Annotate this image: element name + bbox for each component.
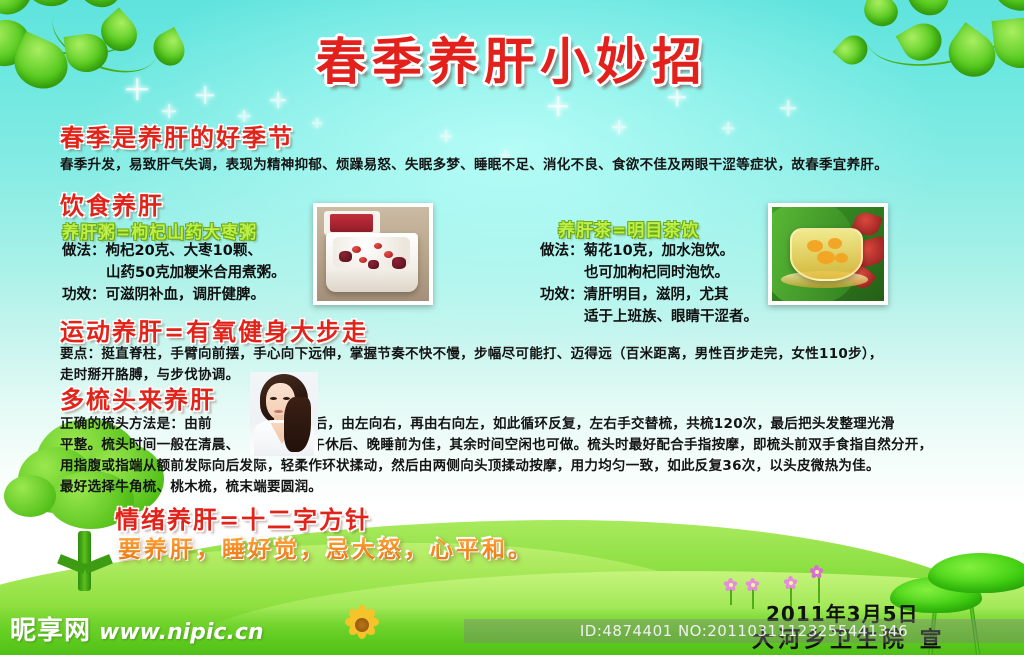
tea-method-label: 做法： [540,243,584,259]
combing-line-4: 最好选择牛角梳、桃木梳，梳末端要圆润。 [60,477,1015,498]
porridge-method-line1: 做法：枸杞20克、大枣10颗、 [62,240,286,262]
site-url-text: www.nipic.cn [99,620,264,645]
poster-canvas: 春季养肝小妙招 春季是养肝的好季节 春季升发，易致肝气失调，表现为精神抑郁、烦躁… [0,0,1024,655]
combing-line-2a: 平整。梳头时间一般在清晨、 [60,437,239,453]
sunflower-illustration [340,603,384,647]
heading-combing: 多梳头来养肝 [60,380,216,415]
tea-method-text2: 也可加枸杞同时泡饮。 [540,262,729,284]
porridge-recipe: 做法：枸杞20克、大枣10颗、 山药50克加粳米合用煮粥。 功效：可滋阴补血，调… [62,240,286,306]
porridge-photo [313,203,433,305]
combing-line-1b: 向后，由左向右，再由右向左，如此循环反复，左右手交替梳，共梳120次，最后把头发… [300,416,895,432]
image-id-watermark: ID:4874401 NO:20110311123255441346 [464,619,1024,643]
tea-recipe: 做法：菊花10克，加水泡饮。 也可加枸杞同时泡饮。 功效：清肝明目，滋阴，尤其 … [540,240,758,328]
emotion-slogan: 要养肝，睡好觉，忌大怒，心平和。 [118,530,534,564]
subheading-tea: 养肝茶=明目茶饮 [558,216,699,241]
tea-photo [768,203,888,305]
tea-effect-line1: 功效：清肝明目，滋阴，尤其 [540,284,758,306]
intro-paragraph-text: 春季升发，易致肝气失调，表现为精神抑郁、烦躁易怒、失眠多梦、睡眠不足、消化不良、… [60,155,1010,176]
page-title: 春季养肝小妙招 [0,22,1024,94]
combing-paragraph: 正确的梳头方法是：由前向后，由左向右，再由右向左，如此循环反复，左右手交替梳，共… [60,414,1015,498]
porridge-method-text2: 山药50克加粳米合用煮粥。 [62,262,286,284]
tea-effect-line2: 适于上班族、眼睛干涩者。 [540,306,758,328]
tea-method-line2: 也可加枸杞同时泡饮。 [540,262,758,284]
intro-paragraph: 春季升发，易致肝气失调，表现为精神抑郁、烦躁易怒、失眠多梦、睡眠不足、消化不良、… [60,155,1010,176]
combing-line-3: 用指腹或指端从额前发际向后发际，轻柔作环状揉动，然后由两侧向头顶揉动按摩，用力均… [60,456,1015,477]
combing-line-2b: 午休后、晚睡前为佳，其余时间空闲也可做。梳头时最好配合手指按摩，即梳头前双手食指… [311,437,932,453]
heading-intro: 春季是养肝的好季节 [60,118,294,153]
combing-line-2: 平整。梳头时间一般在清晨、午休后、晚睡前为佳，其余时间空闲也可做。梳头时最好配合… [60,435,1015,456]
porridge-effect-label: 功效： [62,287,106,303]
heading-exercise: 运动养肝=有氧健身大步走 [60,312,368,347]
tea-method-line1: 做法：菊花10克，加水泡饮。 [540,240,758,262]
exercise-line-1: 要点：挺直脊柱，手臂向前摆，手心向下远伸，掌握节奏不快不慢，步幅尽可能打、迈得远… [60,344,1015,365]
tea-effect-label: 功效： [540,287,584,303]
tea-method-text1: 菊花10克，加水泡饮。 [584,243,735,259]
porridge-method-line2: 山药50克加粳米合用煮粥。 [62,262,286,284]
tea-effect-text1: 清肝明目，滋阴，尤其 [584,287,729,303]
porridge-method-label: 做法： [62,243,106,259]
porridge-effect-line: 功效：可滋阴补血，调肝健脾。 [62,284,286,306]
combing-line-1: 正确的梳头方法是：由前向后，由左向右，再由右向左，如此循环反复，左右手交替梳，共… [60,414,1015,435]
combing-line-1a: 正确的梳头方法是：由前 [60,416,212,432]
porridge-method-text1: 枸杞20克、大枣10颗、 [106,243,262,259]
porridge-effect-text: 可滋阴补血，调肝健脾。 [106,287,266,303]
site-brand-text: 昵享网 [10,610,91,647]
heading-diet: 饮食养肝 [60,186,164,221]
woman-photo [250,372,318,454]
site-watermark: 昵享网 www.nipic.cn [10,610,264,647]
tea-effect-text2: 适于上班族、眼睛干涩者。 [540,306,758,328]
